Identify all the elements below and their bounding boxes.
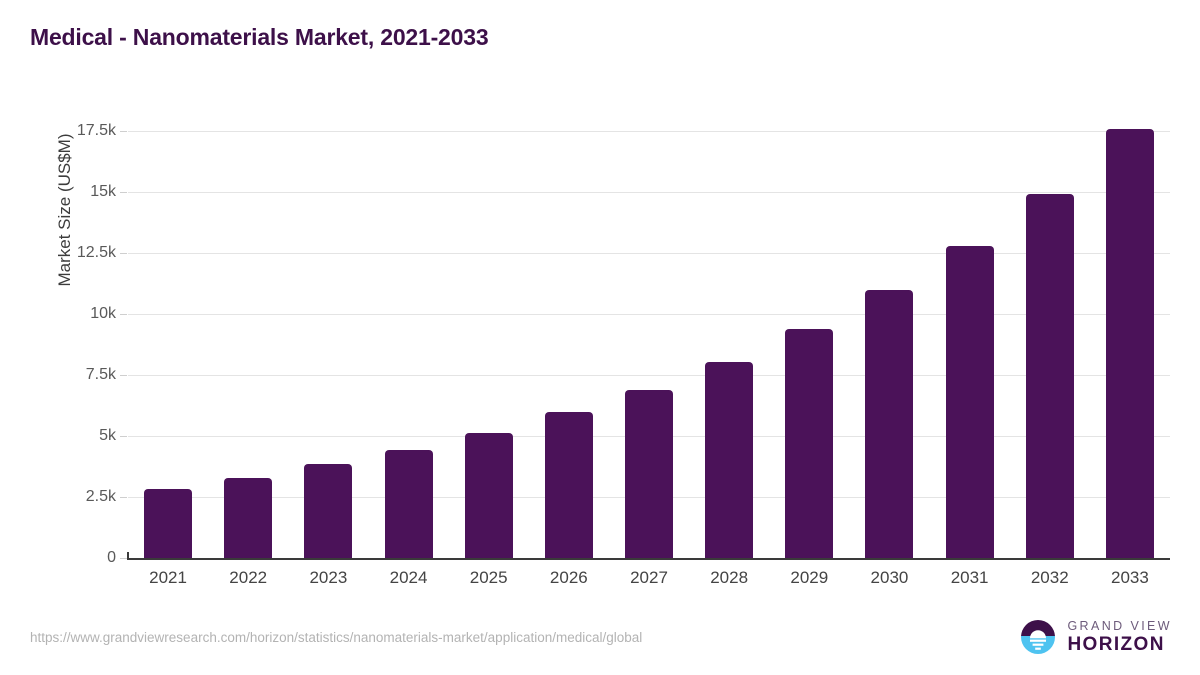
y-tick-label: 12.5k [77, 244, 116, 262]
bar-2031[interactable] [946, 246, 994, 558]
y-tick-mark [120, 375, 127, 376]
chart-canvas: Medical - Nanomaterials Market, 2021-203… [0, 0, 1200, 675]
x-tick-label-2029: 2029 [790, 568, 828, 588]
x-tick-label-2025: 2025 [470, 568, 508, 588]
bars-layer [128, 112, 1170, 558]
bar-2026[interactable] [545, 412, 593, 558]
grand-view-horizon-logo[interactable]: GRAND VIEW HORIZON [1018, 617, 1172, 657]
x-tick-label-2023: 2023 [309, 568, 347, 588]
x-tick-label-2030: 2030 [871, 568, 909, 588]
y-tick-mark [120, 436, 127, 437]
horizon-sun-circle-icon [1018, 617, 1058, 657]
logo-line-grand-view: GRAND VIEW [1067, 620, 1172, 633]
bar-2023[interactable] [304, 464, 352, 558]
x-tick-label-2027: 2027 [630, 568, 668, 588]
y-tick-mark [120, 131, 127, 132]
x-tick-label-2022: 2022 [229, 568, 267, 588]
x-tick-label-2028: 2028 [710, 568, 748, 588]
bar-2025[interactable] [465, 433, 513, 559]
bar-2028[interactable] [705, 362, 753, 558]
y-tick-mark [120, 497, 127, 498]
bar-2022[interactable] [224, 478, 272, 558]
y-tick-label: 17.5k [77, 122, 116, 140]
x-tick-label-2026: 2026 [550, 568, 588, 588]
y-tick-label: 10k [90, 305, 116, 323]
bar-2029[interactable] [785, 329, 833, 558]
bar-2027[interactable] [625, 390, 673, 558]
bar-2030[interactable] [865, 290, 913, 558]
y-tick-label: 7.5k [86, 366, 116, 384]
source-url-text[interactable]: https://www.grandviewresearch.com/horizo… [30, 630, 642, 645]
y-tick-mark [120, 253, 127, 254]
y-tick-label: 5k [99, 427, 116, 445]
y-axis-line [127, 552, 129, 560]
y-tick-mark [120, 192, 127, 193]
x-axis-line [128, 558, 1170, 560]
y-tick-mark [120, 314, 127, 315]
x-axis-tick-labels: 2021202220232024202520262027202820292030… [128, 568, 1170, 598]
y-tick-label: 15k [90, 183, 116, 201]
bar-2033[interactable] [1106, 129, 1154, 558]
x-tick-label-2031: 2031 [951, 568, 989, 588]
x-tick-label-2021: 2021 [149, 568, 187, 588]
y-tick-label: 2.5k [86, 488, 116, 506]
bar-2024[interactable] [385, 450, 433, 558]
x-tick-label-2033: 2033 [1111, 568, 1149, 588]
bar-2032[interactable] [1026, 194, 1074, 558]
logo-line-horizon: HORIZON [1067, 635, 1172, 654]
x-tick-label-2024: 2024 [390, 568, 428, 588]
y-tick-mark [120, 558, 127, 559]
bar-2021[interactable] [144, 489, 192, 558]
logo-wordmark: GRAND VIEW HORIZON [1067, 620, 1172, 655]
y-tick-label: 0 [107, 549, 116, 567]
x-tick-label-2032: 2032 [1031, 568, 1069, 588]
y-axis-tick-labels: 02.5k5k7.5k10k12.5k15k17.5k [0, 0, 116, 675]
